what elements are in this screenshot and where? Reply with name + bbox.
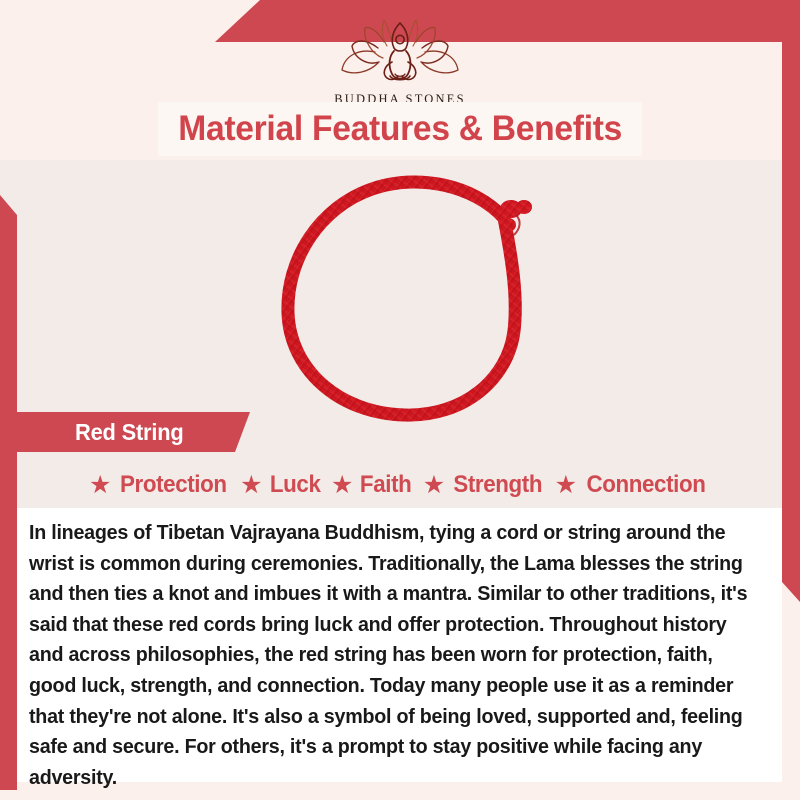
infographic-page: BUDDHA STONES Material Features & Benefi…	[0, 0, 800, 800]
red-string-bracelet-illustration	[268, 163, 568, 435]
keyword-item: ★ Luck	[240, 471, 322, 499]
star-icon: ★	[555, 473, 577, 498]
product-name-ribbon: Red String	[17, 412, 250, 452]
description-panel: In lineages of Tibetan Vajrayana Buddhis…	[17, 508, 782, 782]
keyword-item: ★ Strength	[423, 471, 546, 499]
benefit-keyword-row: ★ Protection ★ Luck ★ Faith ★ Strength ★…	[17, 465, 782, 505]
keyword-label: Strength	[453, 471, 542, 499]
decorative-left-bar	[0, 195, 17, 790]
star-icon: ★	[89, 473, 111, 498]
brand-logo: BUDDHA STONES	[0, 18, 800, 107]
keyword-label: Protection	[120, 471, 227, 499]
description-text: In lineages of Tibetan Vajrayana Buddhis…	[29, 518, 764, 793]
page-title: Material Features & Benefits	[178, 109, 622, 149]
keyword-item: ★ Faith	[331, 471, 414, 499]
keyword-label: Luck	[269, 471, 320, 499]
lotus-meditation-icon	[334, 18, 466, 90]
decorative-right-bar	[782, 42, 800, 602]
product-photo	[268, 163, 568, 435]
star-icon: ★	[240, 473, 262, 498]
star-icon: ★	[423, 473, 445, 498]
star-icon: ★	[331, 473, 353, 498]
product-name-label: Red String	[75, 419, 184, 446]
page-title-box: Material Features & Benefits	[158, 102, 642, 156]
keyword-label: Faith	[360, 471, 411, 499]
keyword-item: ★ Protection	[89, 471, 231, 499]
keyword-label: Connection	[586, 471, 705, 499]
keyword-item: ★ Connection	[555, 471, 710, 499]
